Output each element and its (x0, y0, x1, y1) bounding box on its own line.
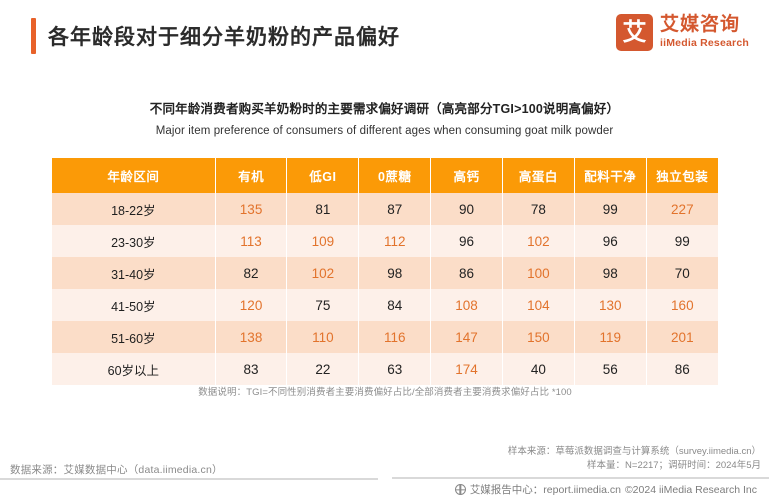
table-row: 51-60岁138110116147150119201 (52, 321, 718, 353)
table-header: 年龄区间有机低GI0蔗糖高钙高蛋白配料干净独立包装 (52, 158, 718, 193)
cell-value: 99 (574, 193, 646, 225)
cell-value: 147 (431, 321, 503, 353)
cell-value: 84 (359, 289, 431, 321)
cell-value: 63 (359, 353, 431, 385)
page-title: 各年龄段对于细分羊奶粉的产品偏好 (48, 21, 400, 51)
preference-table: 年龄区间有机低GI0蔗糖高钙高蛋白配料干净独立包装 18-22岁13581879… (52, 158, 718, 385)
chart-subtitle-block: 不同年龄消费者购买羊奶粉时的主要需求偏好调研（高亮部分TGI>100说明高偏好）… (0, 100, 769, 140)
cell-value: 150 (502, 321, 574, 353)
cell-value: 86 (646, 353, 718, 385)
chart-subtitle-en: Major item preference of consumers of di… (0, 122, 769, 140)
cell-value: 104 (502, 289, 574, 321)
table-row: 18-22岁1358187907899227 (52, 193, 718, 225)
cell-age-range: 18-22岁 (52, 193, 215, 225)
cell-value: 99 (646, 225, 718, 257)
title-accent-bar (31, 18, 36, 54)
cell-value: 130 (574, 289, 646, 321)
table-header-row: 年龄区间有机低GI0蔗糖高钙高蛋白配料干净独立包装 (52, 158, 718, 193)
table-body: 18-22岁135818790789922723-30岁113109112961… (52, 193, 718, 385)
column-header-2: 低GI (287, 158, 359, 193)
cell-value: 109 (287, 225, 359, 257)
footer-left-divider (0, 478, 378, 480)
cell-value: 135 (215, 193, 287, 225)
cell-value: 90 (431, 193, 503, 225)
column-header-age: 年龄区间 (52, 158, 215, 193)
column-header-5: 高蛋白 (502, 158, 574, 193)
cell-value: 113 (215, 225, 287, 257)
cell-value: 82 (215, 257, 287, 289)
logo-name-cn: 艾媒咨询 (660, 15, 749, 36)
cell-value: 100 (502, 257, 574, 289)
footer-copyright: ©2024 iiMedia Research Inc (625, 484, 757, 496)
cell-value: 174 (431, 353, 503, 385)
cell-age-range: 51-60岁 (52, 321, 215, 353)
cell-value: 116 (359, 321, 431, 353)
cell-age-range: 31-40岁 (52, 257, 215, 289)
cell-value: 110 (287, 321, 359, 353)
column-header-4: 高钙 (431, 158, 503, 193)
cell-value: 22 (287, 353, 359, 385)
footer-sample-size: 样本量：N=2217；调研时间：2024年5月 (508, 459, 761, 473)
cell-value: 70 (646, 257, 718, 289)
column-header-1: 有机 (215, 158, 287, 193)
cell-value: 112 (359, 225, 431, 257)
cell-value: 119 (574, 321, 646, 353)
footer-report-center: 艾媒报告中心：report.iimedia.cn ©2024 iiMedia R… (455, 482, 757, 497)
cell-value: 102 (502, 225, 574, 257)
cell-age-range: 41-50岁 (52, 289, 215, 321)
globe-icon (455, 484, 466, 495)
cell-value: 96 (574, 225, 646, 257)
title-group: 各年龄段对于细分羊奶粉的产品偏好 (31, 18, 400, 54)
preference-table-wrap: 年龄区间有机低GI0蔗糖高钙高蛋白配料干净独立包装 18-22岁13581879… (52, 158, 718, 385)
cell-value: 87 (359, 193, 431, 225)
cell-value: 227 (646, 193, 718, 225)
cell-value: 98 (359, 257, 431, 289)
brand-logo: 艾 艾媒咨询 iiMedia Research (616, 14, 749, 51)
cell-value: 81 (287, 193, 359, 225)
cell-age-range: 23-30岁 (52, 225, 215, 257)
cell-value: 86 (431, 257, 503, 289)
footer-sample-block: 样本来源：草莓派数据调查与计算系统（survey.iimedia.cn） 样本量… (508, 445, 761, 474)
table-row: 60岁以上832263174405686 (52, 353, 718, 385)
cell-value: 75 (287, 289, 359, 321)
table-row: 23-30岁113109112961029699 (52, 225, 718, 257)
footer-right-divider (392, 477, 769, 479)
column-header-3: 0蔗糖 (359, 158, 431, 193)
page-header: 各年龄段对于细分羊奶粉的产品偏好 艾 艾媒咨询 iiMedia Research (0, 0, 769, 72)
cell-value: 96 (431, 225, 503, 257)
table-row: 31-40岁8210298861009870 (52, 257, 718, 289)
cell-value: 56 (574, 353, 646, 385)
cell-value: 201 (646, 321, 718, 353)
infographic-page: 各年龄段对于细分羊奶粉的产品偏好 艾 艾媒咨询 iiMedia Research… (0, 0, 769, 500)
cell-value: 78 (502, 193, 574, 225)
cell-value: 98 (574, 257, 646, 289)
cell-age-range: 60岁以上 (52, 353, 215, 385)
cell-value: 40 (502, 353, 574, 385)
footer-report-link[interactable]: 艾媒报告中心：report.iimedia.cn (470, 482, 621, 497)
chart-subtitle-cn: 不同年龄消费者购买羊奶粉时的主要需求偏好调研（高亮部分TGI>100说明高偏好） (0, 100, 769, 119)
logo-name-en: iiMedia Research (660, 37, 749, 51)
cell-value: 83 (215, 353, 287, 385)
cell-value: 108 (431, 289, 503, 321)
table-footnote: 数据说明：TGI=不同性别消费者主要消费偏好占比/全部消费者主要消费求偏好占比 … (52, 384, 718, 398)
footer-data-source: 数据来源：艾媒数据中心（data.iimedia.cn） (10, 462, 223, 477)
logo-text: 艾媒咨询 iiMedia Research (660, 15, 749, 51)
table-row: 41-50岁1207584108104130160 (52, 289, 718, 321)
logo-mark-icon: 艾 (616, 14, 653, 51)
column-header-7: 独立包装 (646, 158, 718, 193)
cell-value: 102 (287, 257, 359, 289)
footer-sample-source: 样本来源：草莓派数据调查与计算系统（survey.iimedia.cn） (508, 445, 761, 459)
cell-value: 138 (215, 321, 287, 353)
cell-value: 120 (215, 289, 287, 321)
cell-value: 160 (646, 289, 718, 321)
column-header-6: 配料干净 (574, 158, 646, 193)
